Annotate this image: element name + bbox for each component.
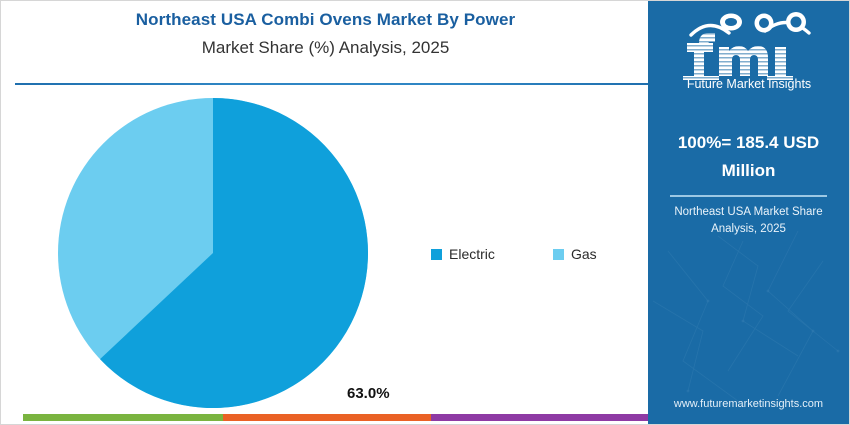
chart-subtitle: Market Share (%) Analysis, 2025: [1, 33, 650, 63]
fmi-logo-svg: Future Market Insights: [669, 9, 829, 91]
bar-segment-green: [23, 414, 223, 421]
fmi-logo[interactable]: Future Market Insights: [648, 9, 849, 96]
title-block: Northeast USA Combi Ovens Market By Powe…: [1, 7, 650, 63]
legend-item-electric[interactable]: Electric: [431, 245, 495, 263]
chart-region: Northeast USA Combi Ovens Market By Powe…: [1, 1, 650, 425]
brand-divider: [670, 195, 827, 197]
legend-item-gas[interactable]: Gas: [553, 245, 597, 263]
pie-value-label: 63.0%: [347, 385, 390, 402]
legend-swatch-gas: [553, 249, 564, 260]
brand-caption: Northeast USA Market Share Analysis, 202…: [662, 204, 835, 238]
pie-chart: 63.0%: [58, 98, 368, 408]
bar-segment-orange: [223, 414, 431, 421]
legend-swatch-electric: [431, 249, 442, 260]
brand-headline: 100%= 185.4 USD Million: [658, 129, 839, 185]
bottom-accent-bar: [23, 414, 650, 421]
fmi-logo-tagline: Future Market Insights: [686, 77, 810, 91]
bar-segment-purple: [431, 414, 650, 421]
pie-svg: [58, 98, 368, 408]
title-divider: [15, 83, 649, 85]
legend-label-gas: Gas: [571, 246, 597, 262]
legend-label-electric: Electric: [449, 246, 495, 262]
chart-title: Northeast USA Combi Ovens Market By Powe…: [1, 7, 650, 33]
brand-url[interactable]: www.futuremarketinsights.com: [648, 398, 849, 410]
chart-legend: Electric Gas: [431, 245, 631, 265]
brand-panel: Future Market Insights 100%= 185.4 USD M…: [648, 1, 849, 425]
chart-canvas: Northeast USA Combi Ovens Market By Powe…: [0, 0, 850, 425]
